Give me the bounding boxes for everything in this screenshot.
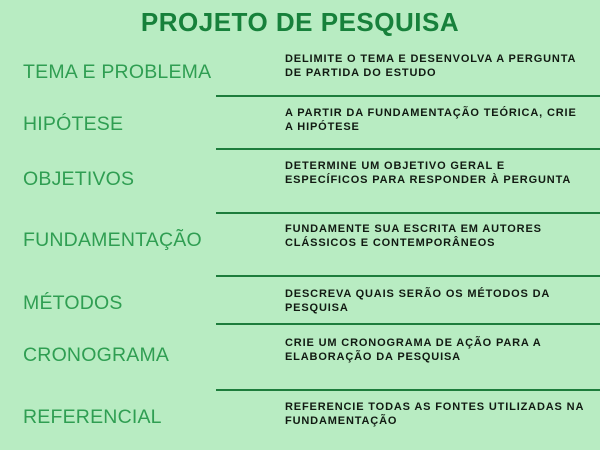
step-description: CRIE UM CRONOGRAMA DE AÇÃO PARA A ELABOR… bbox=[285, 336, 585, 364]
row-divider bbox=[216, 148, 600, 150]
step-label: FUNDAMENTAÇÃO bbox=[23, 228, 223, 252]
step-label: OBJETIVOS bbox=[23, 167, 223, 191]
row-divider bbox=[216, 389, 600, 391]
row-divider bbox=[216, 323, 600, 325]
step-description: DETERMINE UM OBJETIVO GERAL E ESPECÍFICO… bbox=[285, 159, 585, 187]
step-description: DELIMITE O TEMA E DESENVOLVA A PERGUNTA … bbox=[285, 52, 585, 80]
row-divider bbox=[216, 275, 600, 277]
step-label: CRONOGRAMA bbox=[23, 343, 223, 367]
step-label: TEMA E PROBLEMA bbox=[23, 60, 223, 84]
row-divider bbox=[216, 212, 600, 214]
step-description: FUNDAMENTE SUA ESCRITA EM AUTORES CLÁSSI… bbox=[285, 222, 585, 250]
step-label: HIPÓTESE bbox=[23, 112, 223, 136]
page-title: PROJETO DE PESQUISA bbox=[0, 6, 600, 38]
step-description: REFERENCIE TODAS AS FONTES UTILIZADAS NA… bbox=[285, 400, 585, 428]
step-description: A PARTIR DA FUNDAMENTAÇÃO TEÓRICA, CRIE … bbox=[285, 106, 585, 134]
step-label: REFERENCIAL bbox=[23, 405, 223, 429]
row-divider bbox=[216, 95, 600, 97]
step-description: DESCREVA QUAIS SERÃO OS MÉTODOS DA PESQU… bbox=[285, 287, 585, 315]
research-project-poster: PROJETO DE PESQUISA TEMA E PROBLEMADELIM… bbox=[0, 0, 600, 450]
step-label: MÉTODOS bbox=[23, 291, 223, 315]
